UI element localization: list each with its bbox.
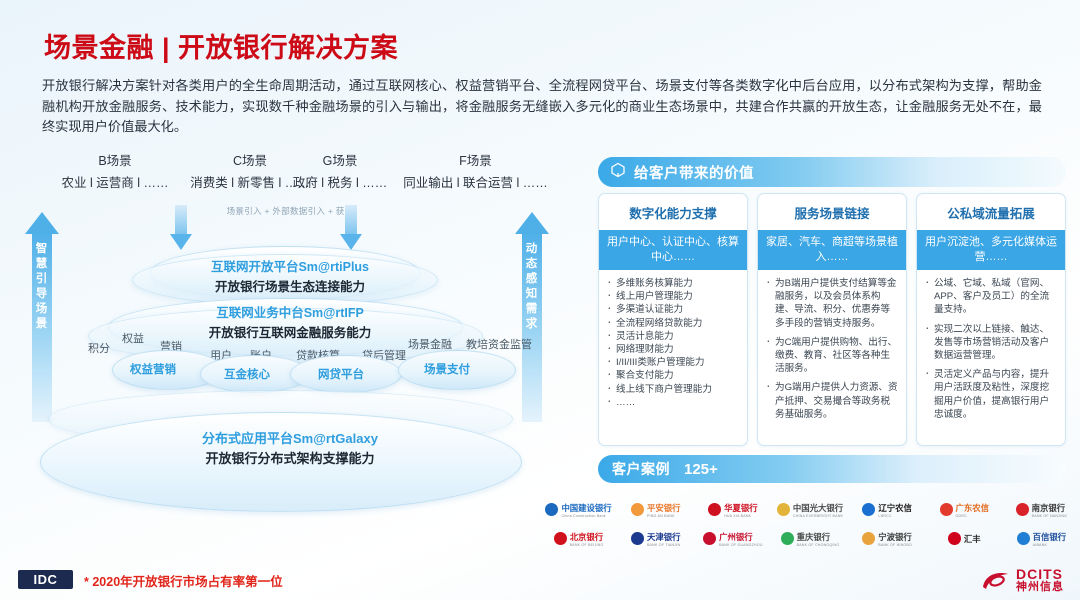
card-band: 用户沉淀池、多元化媒体运营…… bbox=[917, 230, 1065, 270]
bank-name-en: AIBANK bbox=[1033, 543, 1067, 547]
arrow-down-icon-right bbox=[340, 205, 362, 251]
bank-name: 广州银行 bbox=[719, 531, 763, 543]
bank-name: 华夏银行 bbox=[724, 502, 758, 514]
list-item: 全流程网络贷款能力 bbox=[605, 317, 739, 330]
customer-logos: 中国建设银行China Construction Bank平安银行PING AN… bbox=[540, 495, 1080, 553]
layer-3-text: 分布式应用平台Sm@rtGalaxy 开放银行分布式架构支撑能力 bbox=[0, 428, 580, 467]
value-section-header: 给客户带来的价值 bbox=[598, 157, 1066, 187]
layer-2-product: 互联网业务中台Sm@rtIFP bbox=[0, 302, 580, 321]
bank-logo-mark-icon bbox=[631, 503, 644, 516]
bank-logo-mark-icon bbox=[781, 532, 794, 545]
dcits-wordmark: DCITS 神州信息 bbox=[1016, 567, 1064, 594]
bank-name-en: BANK OF TIANJIN bbox=[647, 543, 681, 547]
customer-cases-header: 客户案例 125+ bbox=[598, 455, 1066, 483]
bank-logo-text: 中国建设银行China Construction Bank bbox=[561, 502, 611, 518]
bank-logo-text: 南京银行BANK OF NANJING bbox=[1032, 502, 1068, 518]
bank-name: 中国光大银行 bbox=[793, 502, 843, 514]
list-item: 聚合支付能力 bbox=[605, 369, 739, 382]
bank-name-en: China Construction Bank bbox=[561, 514, 611, 518]
bank-logo-text: 华夏银行HUA XIA BANK bbox=[724, 502, 758, 518]
logo-row-1: 中国建设银行China Construction Bank平安银行PING AN… bbox=[540, 495, 1080, 524]
bank-name-en: BANK OF NINGBO bbox=[878, 543, 912, 547]
layer-3-product: 分布式应用平台Sm@rtGalaxy bbox=[0, 428, 580, 447]
value-card-service-scene-link: 服务场景链接 家居、汽车、商超等场景植入…… 为B端用户提供支付结算等金融服务，… bbox=[757, 193, 907, 446]
bank-name: 平安银行 bbox=[647, 502, 681, 514]
bank-name: 南京银行 bbox=[1032, 502, 1068, 514]
bank-name: 汇丰 bbox=[964, 533, 981, 545]
bank-name-en: BANK OF BEIJING bbox=[570, 543, 604, 547]
solution-architecture-diagram: B场景 农业 l 运营商 l …… C场景 消费类 l 新零售 l …… G场景… bbox=[0, 150, 580, 550]
bank-logo: 华夏银行HUA XIA BANK bbox=[694, 502, 771, 518]
bank-name-en: PING AN BANK bbox=[647, 514, 681, 518]
bank-name: 北京银行 bbox=[570, 531, 604, 543]
bank-name-en: BANK OF NANJING bbox=[1032, 514, 1068, 518]
scene-columns: B场景 农业 l 运营商 l …… C场景 消费类 l 新零售 l …… G场景… bbox=[0, 150, 580, 195]
bank-logo: 北京银行BANK OF BEIJING bbox=[540, 531, 617, 547]
scene-subtitle: 同业输出 l 联合运营 l …… bbox=[378, 172, 573, 191]
bank-name: 宁波银行 bbox=[878, 531, 912, 543]
bank-logo: 平安银行PING AN BANK bbox=[617, 502, 694, 518]
bank-logo-mark-icon bbox=[1017, 532, 1030, 545]
bank-logo: 南京银行BANK OF NANJING bbox=[1003, 502, 1080, 518]
list-item: 多维账务核算能力 bbox=[605, 277, 739, 290]
dcits-brand-en: DCITS bbox=[1016, 567, 1064, 581]
list-item: 线上用户管理能力 bbox=[605, 290, 739, 303]
logo-row-2: 北京银行BANK OF BEIJING天津银行BANK OF TIANJIN广州… bbox=[540, 524, 1080, 553]
bank-logo: 汇丰 bbox=[926, 532, 1003, 545]
bank-logo-mark-icon bbox=[708, 503, 721, 516]
module-item-quanyi: 权益 bbox=[122, 330, 144, 346]
bank-logo-text: 百信银行AIBANK bbox=[1033, 531, 1067, 547]
value-cards: 数字化能力支撑 用户中心、认证中心、核算中心…… 多维账务核算能力 线上用户管理… bbox=[598, 193, 1066, 446]
card-body: 公域、它域、私域（官网、APP、客户及员工）的全流量支持。 实现二次以上链接、触… bbox=[917, 270, 1065, 433]
customer-cases-count: 125+ bbox=[684, 461, 718, 478]
bank-name: 百信银行 bbox=[1033, 531, 1067, 543]
bank-name-en: GDRC bbox=[956, 514, 990, 518]
list-item: 为G端用户提供人力资源、资产抵押、交易撮合等政务税务基础服务。 bbox=[764, 381, 898, 421]
layer-1-text: 互联网开放平台Sm@rtiPlus 开放银行场景生态连接能力 bbox=[0, 256, 580, 295]
arrow-down-icon-left bbox=[170, 205, 192, 251]
bank-name-en: BANK OF GUANGZHOU bbox=[719, 543, 763, 547]
list-item: 灵活计息能力 bbox=[605, 330, 739, 343]
layer-3-capability: 开放银行分布式架构支撑能力 bbox=[0, 448, 580, 467]
bank-name: 广东农信 bbox=[956, 502, 990, 514]
bank-logo: 广州银行BANK OF GUANGZHOU bbox=[694, 531, 771, 547]
idc-logo: IDC bbox=[18, 570, 73, 589]
bank-name: 辽宁农信 bbox=[878, 502, 912, 514]
bank-logo: 中国光大银行CHINA EVERBRIGHT BANK bbox=[771, 502, 848, 518]
card-title: 服务场景链接 bbox=[758, 194, 906, 230]
bank-logo-mark-icon bbox=[703, 532, 716, 545]
bank-logo: 宁波银行BANK OF NINGBO bbox=[849, 531, 926, 547]
customer-cases-title: 客户案例 bbox=[612, 459, 670, 479]
bank-logo-text: 天津银行BANK OF TIANJIN bbox=[647, 531, 681, 547]
list-item: 多渠道认证能力 bbox=[605, 303, 739, 316]
value-card-traffic-expansion: 公私域流量拓展 用户沉淀池、多元化媒体运营…… 公域、它域、私域（官网、APP、… bbox=[916, 193, 1066, 446]
scene-name: F场景 bbox=[378, 150, 573, 169]
value-section-title: 给客户带来的价值 bbox=[634, 162, 754, 183]
bank-logo-text: 广东农信GDRC bbox=[956, 502, 990, 518]
bank-logo: 重庆银行BANK OF CHONGQING bbox=[771, 531, 848, 547]
module-name-wangdaipingtai: 网贷平台 bbox=[318, 366, 364, 382]
scene-column-f: F场景 同业输出 l 联合运营 l …… bbox=[378, 150, 573, 191]
dcits-logo: DCITS 神州信息 bbox=[981, 567, 1064, 594]
page-title: 场景金融 | 开放银行解决方案 bbox=[44, 26, 398, 65]
dcits-brand-cn: 神州信息 bbox=[1016, 581, 1064, 594]
card-title: 数字化能力支撑 bbox=[599, 194, 747, 230]
bank-logo-mark-icon bbox=[948, 532, 961, 545]
idc-note: * 2020年开放银行市场占有率第一位 bbox=[84, 571, 283, 590]
bank-name-en: HUA XIA BANK bbox=[724, 514, 758, 518]
bank-logo-text: 宁波银行BANK OF NINGBO bbox=[878, 531, 912, 547]
card-body: 多维账务核算能力 线上用户管理能力 多渠道认证能力 全流程网络贷款能力 灵活计息… bbox=[599, 270, 747, 415]
bank-logo-mark-icon bbox=[777, 503, 790, 516]
bank-logo-mark-icon bbox=[545, 503, 558, 516]
module-name-quanyiyingxiao: 权益营销 bbox=[130, 361, 176, 377]
bank-name: 天津银行 bbox=[647, 531, 681, 543]
bank-name-en: CHINA EVERBRIGHT BANK bbox=[793, 514, 843, 518]
list-item: 线上线下商户管理能力 bbox=[605, 383, 739, 396]
card-title: 公私域流量拓展 bbox=[917, 194, 1065, 230]
list-item: 实现二次以上链接、触达、发售等市场营销活动及客户数据运营管理。 bbox=[923, 323, 1057, 363]
card-band: 家居、汽车、商超等场景植入…… bbox=[758, 230, 906, 270]
layer-1-capability: 开放银行场景生态连接能力 bbox=[0, 276, 580, 295]
list-item: I/II/III类账户管理能力 bbox=[605, 356, 739, 369]
list-item: …… bbox=[605, 396, 739, 409]
bank-logo-mark-icon bbox=[1016, 503, 1029, 516]
bank-name-en: LNRCC bbox=[878, 514, 912, 518]
card-band: 用户中心、认证中心、核算中心…… bbox=[599, 230, 747, 270]
intro-paragraph: 开放银行解决方案针对各类用户的全生命周期活动，通过互联网核心、权益营销平台、全流… bbox=[42, 76, 1042, 138]
bank-logo-text: 汇丰 bbox=[964, 533, 981, 545]
footer: IDC * 2020年开放银行市场占有率第一位 DCITS 神州信息 bbox=[0, 562, 1080, 600]
bank-logo-text: 广州银行BANK OF GUANGZHOU bbox=[719, 531, 763, 547]
bank-logo-mark-icon bbox=[940, 503, 953, 516]
bank-logo: 中国建设银行China Construction Bank bbox=[540, 502, 617, 518]
bank-logo-text: 北京银行BANK OF BEIJING bbox=[570, 531, 604, 547]
module-item-jiaopeizijin: 教培资金监管 bbox=[466, 336, 532, 352]
hexagon-icon bbox=[610, 162, 626, 183]
list-item: 公域、它域、私域（官网、APP、客户及员工）的全流量支持。 bbox=[923, 277, 1057, 317]
module-name-changjingzhifu: 场景支付 bbox=[424, 361, 470, 377]
bank-logo-mark-icon bbox=[862, 532, 875, 545]
card-body: 为B端用户提供支付结算等金融服务，以及会员体系构建、导流、积分、优惠券等多手段的… bbox=[758, 270, 906, 433]
bank-logo-text: 中国光大银行CHINA EVERBRIGHT BANK bbox=[793, 502, 843, 518]
list-item: 为B端用户提供支付结算等金融服务，以及会员体系构建、导流、积分、优惠券等多手段的… bbox=[764, 277, 898, 330]
bank-logo-mark-icon bbox=[554, 532, 567, 545]
module-name-hujinhexin: 互金核心 bbox=[224, 366, 270, 382]
layer-1-product: 互联网开放平台Sm@rtiPlus bbox=[0, 256, 580, 275]
bank-logo-mark-icon bbox=[631, 532, 644, 545]
bank-logo-mark-icon bbox=[862, 503, 875, 516]
bank-name-en: BANK OF CHONGQING bbox=[797, 543, 840, 547]
list-item: 网络理财能力 bbox=[605, 343, 739, 356]
bank-logo: 百信银行AIBANK bbox=[1003, 531, 1080, 547]
bank-logo: 辽宁农信LNRCC bbox=[849, 502, 926, 518]
module-item-jifen: 积分 bbox=[88, 340, 110, 356]
swirl-icon bbox=[981, 569, 1011, 593]
bank-logo-text: 平安银行PING AN BANK bbox=[647, 502, 681, 518]
bank-logo-text: 辽宁农信LNRCC bbox=[878, 502, 912, 518]
bank-logo: 广东农信GDRC bbox=[926, 502, 1003, 518]
value-card-digital-capability: 数字化能力支撑 用户中心、认证中心、核算中心…… 多维账务核算能力 线上用户管理… bbox=[598, 193, 748, 446]
bank-logo-text: 重庆银行BANK OF CHONGQING bbox=[797, 531, 840, 547]
list-item: 为C端用户提供购物、出行、缴费、教育、社区等各种生活服务。 bbox=[764, 336, 898, 376]
list-item: 灵活定义产品与内容，提升用户活跃度及粘性，深度挖掘用户价值，提高银行用户忠诚度。 bbox=[923, 368, 1057, 421]
bank-name: 重庆银行 bbox=[797, 531, 840, 543]
bank-name: 中国建设银行 bbox=[561, 502, 611, 514]
bank-logo: 天津银行BANK OF TIANJIN bbox=[617, 531, 694, 547]
